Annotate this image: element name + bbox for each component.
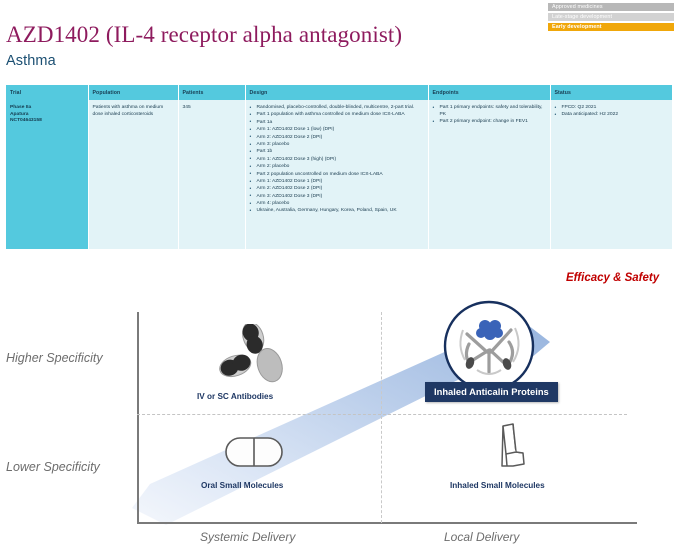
column-header-population: Population	[88, 85, 178, 100]
list-item: Data anticipated: H2 2022	[555, 112, 669, 119]
cell-trial: Phase IIa Apatura NCT04643158	[6, 100, 88, 249]
endpoints-list: Part 1 primary endpoints: safety and tol…	[433, 105, 546, 126]
legend-item-approved-medicines[interactable]: Approved medicines	[548, 3, 674, 11]
capsule-icon	[222, 432, 288, 475]
status-list: FPCD: Q2 2021 Data anticipated: H2 2022	[555, 105, 669, 119]
cell-design: Randomised, placebo-controlled, double-b…	[245, 100, 428, 249]
list-item: Arm 3: placebo	[250, 142, 424, 149]
trial-nct-id[interactable]: NCT04643158	[10, 118, 84, 125]
table-row: Phase IIa Apatura NCT04643158 Patients w…	[6, 100, 672, 249]
column-header-design: Design	[245, 85, 428, 100]
list-item: Arm 3: AZD1402 Dose 3 (DPI)	[250, 194, 424, 201]
list-item: Part 1b	[250, 149, 424, 156]
list-item: Part 1 primary endpoints: safety and tol…	[433, 105, 546, 118]
development-stage-legend: Approved medicines Late-stage developmen…	[548, 3, 674, 33]
population-text: Patients with asthma on medium dose inha…	[93, 105, 164, 117]
column-header-patients: Patients	[178, 85, 245, 100]
trial-phase: Phase IIa	[10, 105, 84, 112]
x-axis-line	[137, 522, 637, 524]
list-item: Randomised, placebo-controlled, double-b…	[250, 105, 424, 112]
list-item: Arm 4: placebo	[250, 201, 424, 208]
y-axis-label-higher-specificity: Higher Specificity	[6, 351, 103, 365]
cell-status: FPCD: Q2 2021 Data anticipated: H2 2022	[550, 100, 672, 249]
list-item: Part 1 population with asthma controlled…	[250, 112, 424, 119]
list-item: Arm 2: AZD1402 Dose 2 (DPI)	[250, 135, 424, 142]
list-item: Arm 1: AZD1402 Dose 3 (high) (DPI)	[250, 157, 424, 164]
list-item: Part 2 population uncontrolled on medium…	[250, 172, 424, 179]
legend-item-early-development[interactable]: Early development	[548, 23, 674, 31]
list-item: Ukraine, Australia, Germany, Hungary, Ko…	[250, 208, 424, 215]
quadrant-label-iv-or-sc-antibodies: IV or SC Antibodies	[197, 392, 273, 401]
list-item: Part 1a	[250, 120, 424, 127]
list-item: FPCD: Q2 2021	[555, 105, 669, 112]
horizontal-quadrant-divider	[137, 414, 627, 415]
patients-count: 345	[183, 105, 191, 110]
trial-table: Trial Population Patients Design Endpoin…	[6, 85, 672, 249]
legend-item-late-stage-development[interactable]: Late-stage development	[548, 13, 674, 21]
list-item: Arm 1: AZD1402 Dose 1 (DPI)	[250, 179, 424, 186]
quadrant-label-oral-small-molecules: Oral Small Molecules	[201, 481, 283, 490]
page-title: AZD1402 (IL-4 receptor alpha antagonist)	[6, 22, 402, 48]
list-item: Part 2 primary endpoint: change in FEV1	[433, 119, 546, 126]
quadrant-label-inhaled-small-molecules: Inhaled Small Molecules	[450, 481, 545, 490]
inhaler-icon	[489, 422, 533, 485]
table-header-row: Trial Population Patients Design Endpoin…	[6, 85, 672, 100]
page-subtitle: Asthma	[6, 53, 56, 69]
x-axis-label-systemic-delivery: Systemic Delivery	[200, 530, 295, 544]
x-axis-label-local-delivery: Local Delivery	[444, 530, 519, 544]
antibody-icon	[214, 324, 292, 399]
design-list: Randomised, placebo-controlled, double-b…	[250, 105, 424, 215]
efficacy-safety-label: Efficacy & Safety	[566, 272, 659, 284]
list-item: Arm 2: AZD1402 Dose 2 (DPI)	[250, 186, 424, 193]
quadrant-label-inhaled-anticalin-proteins: Inhaled Anticalin Proteins	[425, 382, 558, 402]
column-header-trial: Trial	[6, 85, 88, 100]
list-item: Arm 2: placebo	[250, 164, 424, 171]
cell-endpoints: Part 1 primary endpoints: safety and tol…	[428, 100, 550, 249]
vertical-quadrant-divider	[381, 312, 382, 523]
column-header-status: Status	[550, 85, 672, 100]
cell-population: Patients with asthma on medium dose inha…	[88, 100, 178, 249]
cell-patients: 345	[178, 100, 245, 249]
column-header-endpoints: Endpoints	[428, 85, 550, 100]
specificity-delivery-quadrant-diagram: Efficacy & Safety Higher Specificity Low…	[0, 262, 682, 556]
list-item: Arm 1: AZD1402 Dose 1 (low) (DPI)	[250, 127, 424, 134]
diagonal-gradient-arrow	[120, 294, 660, 529]
y-axis-line	[137, 312, 139, 523]
y-axis-label-lower-specificity: Lower Specificity	[6, 460, 100, 474]
